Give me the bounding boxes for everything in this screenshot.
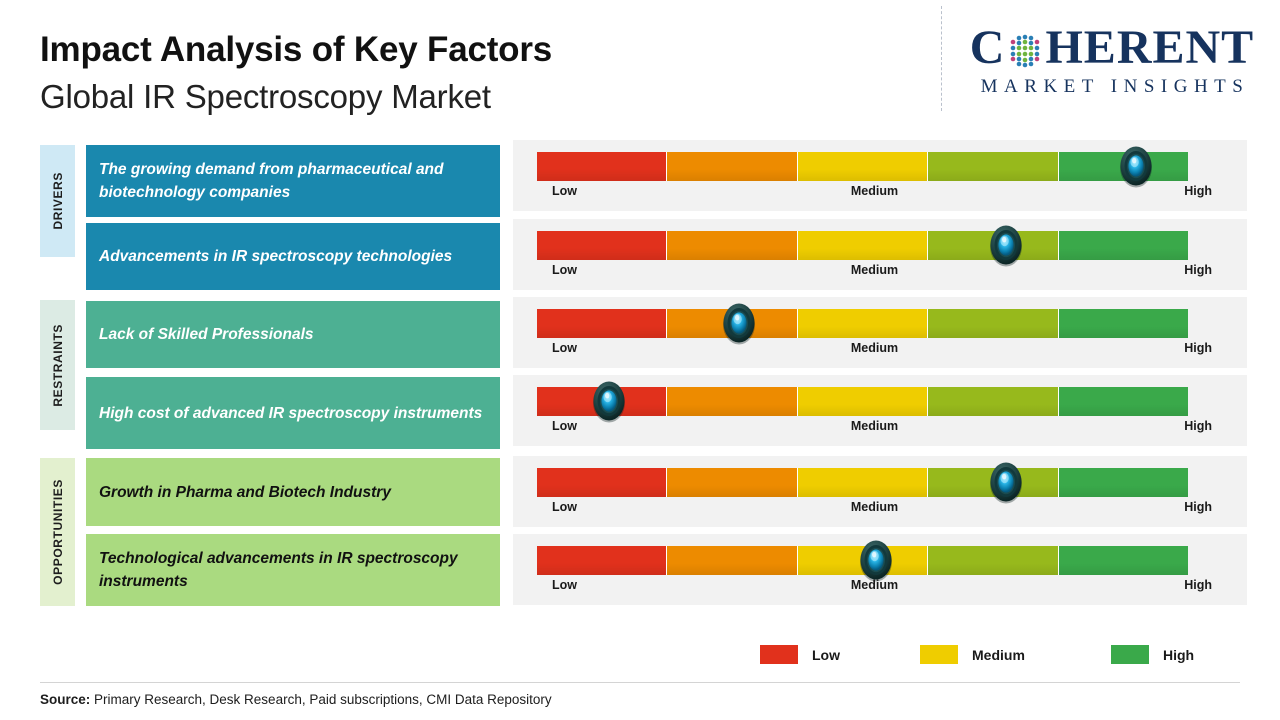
legend-label: High xyxy=(1163,647,1194,663)
gauge-segment-0 xyxy=(537,309,667,338)
legend-item-high: High xyxy=(1111,645,1194,664)
gauge-row[interactable]: LowMediumHigh xyxy=(513,456,1247,527)
factor-text: Lack of Skilled Professionals xyxy=(99,323,314,346)
factor-box[interactable]: The growing demand from pharmaceutical a… xyxy=(86,145,500,217)
scale-label-low: Low xyxy=(552,419,577,433)
scale-label-high: High xyxy=(1184,578,1212,592)
gauge-bar xyxy=(537,152,1188,181)
gauge-row[interactable]: LowMediumHigh xyxy=(513,219,1247,290)
gauge-scale-labels: LowMediumHigh xyxy=(537,263,1212,283)
scale-label-high: High xyxy=(1184,263,1212,277)
factor-box[interactable]: Advancements in IR spectroscopy technolo… xyxy=(86,223,500,290)
legend-swatch-low xyxy=(760,645,798,664)
scale-label-high: High xyxy=(1184,500,1212,514)
company-logo: C xyxy=(962,22,1262,98)
scale-label-low: Low xyxy=(552,578,577,592)
legend: Low Medium High xyxy=(760,645,1190,669)
source-text: Primary Research, Desk Research, Paid su… xyxy=(90,692,551,707)
factor-text: High cost of advanced IR spectroscopy in… xyxy=(99,402,482,425)
scale-label-high: High xyxy=(1184,341,1212,355)
gauge-segment-2 xyxy=(798,309,928,338)
logo-letters-herent: HERENT xyxy=(1045,23,1254,73)
gauge-segment-0 xyxy=(537,152,667,181)
gauge-bar xyxy=(537,387,1188,416)
gauge-segment-4 xyxy=(1059,468,1188,497)
gauge-segment-0 xyxy=(537,231,667,260)
gauge-scale-labels: LowMediumHigh xyxy=(537,419,1212,439)
logo-divider xyxy=(941,6,942,111)
gauge-bar xyxy=(537,546,1188,575)
legend-swatch-high xyxy=(1111,645,1149,664)
scale-label-medium: Medium xyxy=(851,419,898,433)
page-subtitle: Global IR Spectroscopy Market xyxy=(40,75,552,119)
gauge-segment-2 xyxy=(798,546,928,575)
gauge-segment-2 xyxy=(798,468,928,497)
scale-label-low: Low xyxy=(552,184,577,198)
factor-box[interactable]: High cost of advanced IR spectroscopy in… xyxy=(86,377,500,449)
gauge-segment-0 xyxy=(537,468,667,497)
gauge-segment-2 xyxy=(798,231,928,260)
gauge-segment-1 xyxy=(667,231,797,260)
gauge-segment-1 xyxy=(667,152,797,181)
source-label: Source: xyxy=(40,692,90,707)
gauge-segment-0 xyxy=(537,387,667,416)
gauge-segment-2 xyxy=(798,152,928,181)
footer-divider xyxy=(40,682,1240,683)
page-title: Impact Analysis of Key Factors xyxy=(40,28,552,72)
legend-item-low: Low xyxy=(760,645,840,664)
legend-label: Medium xyxy=(972,647,1025,663)
source-note: Source: Primary Research, Desk Research,… xyxy=(40,692,552,707)
logo-wordmark: C xyxy=(962,22,1262,74)
gauge-row[interactable]: LowMediumHigh xyxy=(513,297,1247,368)
scale-label-low: Low xyxy=(552,341,577,355)
title-block: Impact Analysis of Key Factors Global IR… xyxy=(40,28,552,119)
gauge-segment-3 xyxy=(928,387,1058,416)
gauge-row[interactable]: LowMediumHigh xyxy=(513,534,1247,605)
category-label-opportunities: OPPORTUNITIES xyxy=(40,458,75,606)
scale-label-low: Low xyxy=(552,263,577,277)
legend-swatch-medium xyxy=(920,645,958,664)
category-label-restraints: RESTRAINTS xyxy=(40,300,75,430)
category-text: RESTRAINTS xyxy=(51,324,65,407)
gauge-bar xyxy=(537,468,1188,497)
category-rail-opportunities: OPPORTUNITIES xyxy=(40,458,75,606)
gauge-scale-labels: LowMediumHigh xyxy=(537,341,1212,361)
gauge-segment-1 xyxy=(667,387,797,416)
gauge-segment-3 xyxy=(928,152,1058,181)
factor-box[interactable]: Lack of Skilled Professionals xyxy=(86,301,500,368)
factor-text: The growing demand from pharmaceutical a… xyxy=(99,158,487,204)
category-text: OPPORTUNITIES xyxy=(51,479,65,585)
gauge-segment-3 xyxy=(928,468,1058,497)
header: Impact Analysis of Key Factors Global IR… xyxy=(0,0,1280,130)
scale-label-medium: Medium xyxy=(851,341,898,355)
gauge-segment-0 xyxy=(537,546,667,575)
factor-box[interactable]: Technological advancements in IR spectro… xyxy=(86,534,500,606)
gauge-scale-labels: LowMediumHigh xyxy=(537,500,1212,520)
gauge-bar xyxy=(537,309,1188,338)
impact-matrix: DRIVERS RESTRAINTS OPPORTUNITIES The gro… xyxy=(0,140,1280,610)
legend-item-medium: Medium xyxy=(920,645,1025,664)
category-text: DRIVERS xyxy=(51,172,65,230)
scale-label-high: High xyxy=(1184,184,1212,198)
gauge-row[interactable]: LowMediumHigh xyxy=(513,375,1247,446)
gauge-segment-4 xyxy=(1059,231,1188,260)
gauge-segment-4 xyxy=(1059,309,1188,338)
gauge-segment-4 xyxy=(1059,152,1188,181)
scale-label-high: High xyxy=(1184,419,1212,433)
factor-text: Technological advancements in IR spectro… xyxy=(99,547,487,593)
logo-letter-c: C xyxy=(970,23,1006,73)
gauge-segment-1 xyxy=(667,546,797,575)
category-label-drivers: DRIVERS xyxy=(40,145,75,257)
gauge-segment-3 xyxy=(928,546,1058,575)
scale-label-medium: Medium xyxy=(851,184,898,198)
gauge-segment-1 xyxy=(667,309,797,338)
scale-label-medium: Medium xyxy=(851,263,898,277)
gauge-bar xyxy=(537,231,1188,260)
gauge-segment-1 xyxy=(667,468,797,497)
scale-label-low: Low xyxy=(552,500,577,514)
logo-tagline: MARKET INSIGHTS xyxy=(962,76,1262,98)
gauge-segment-2 xyxy=(798,387,928,416)
gauge-segment-3 xyxy=(928,231,1058,260)
gauge-row[interactable]: LowMediumHigh xyxy=(513,140,1247,211)
scale-label-medium: Medium xyxy=(851,500,898,514)
legend-label: Low xyxy=(812,647,840,663)
gauge-scale-labels: LowMediumHigh xyxy=(537,578,1212,598)
dotted-sphere-icon xyxy=(1006,29,1044,67)
factor-text: Growth in Pharma and Biotech Industry xyxy=(99,481,391,504)
gauge-segment-3 xyxy=(928,309,1058,338)
gauge-segment-4 xyxy=(1059,387,1188,416)
factor-text: Advancements in IR spectroscopy technolo… xyxy=(99,245,452,268)
category-rail-drivers: DRIVERS xyxy=(40,145,75,257)
gauge-scale-labels: LowMediumHigh xyxy=(537,184,1212,204)
factor-box[interactable]: Growth in Pharma and Biotech Industry xyxy=(86,458,500,526)
category-rail-restraints: RESTRAINTS xyxy=(40,300,75,430)
scale-label-medium: Medium xyxy=(851,578,898,592)
gauge-segment-4 xyxy=(1059,546,1188,575)
